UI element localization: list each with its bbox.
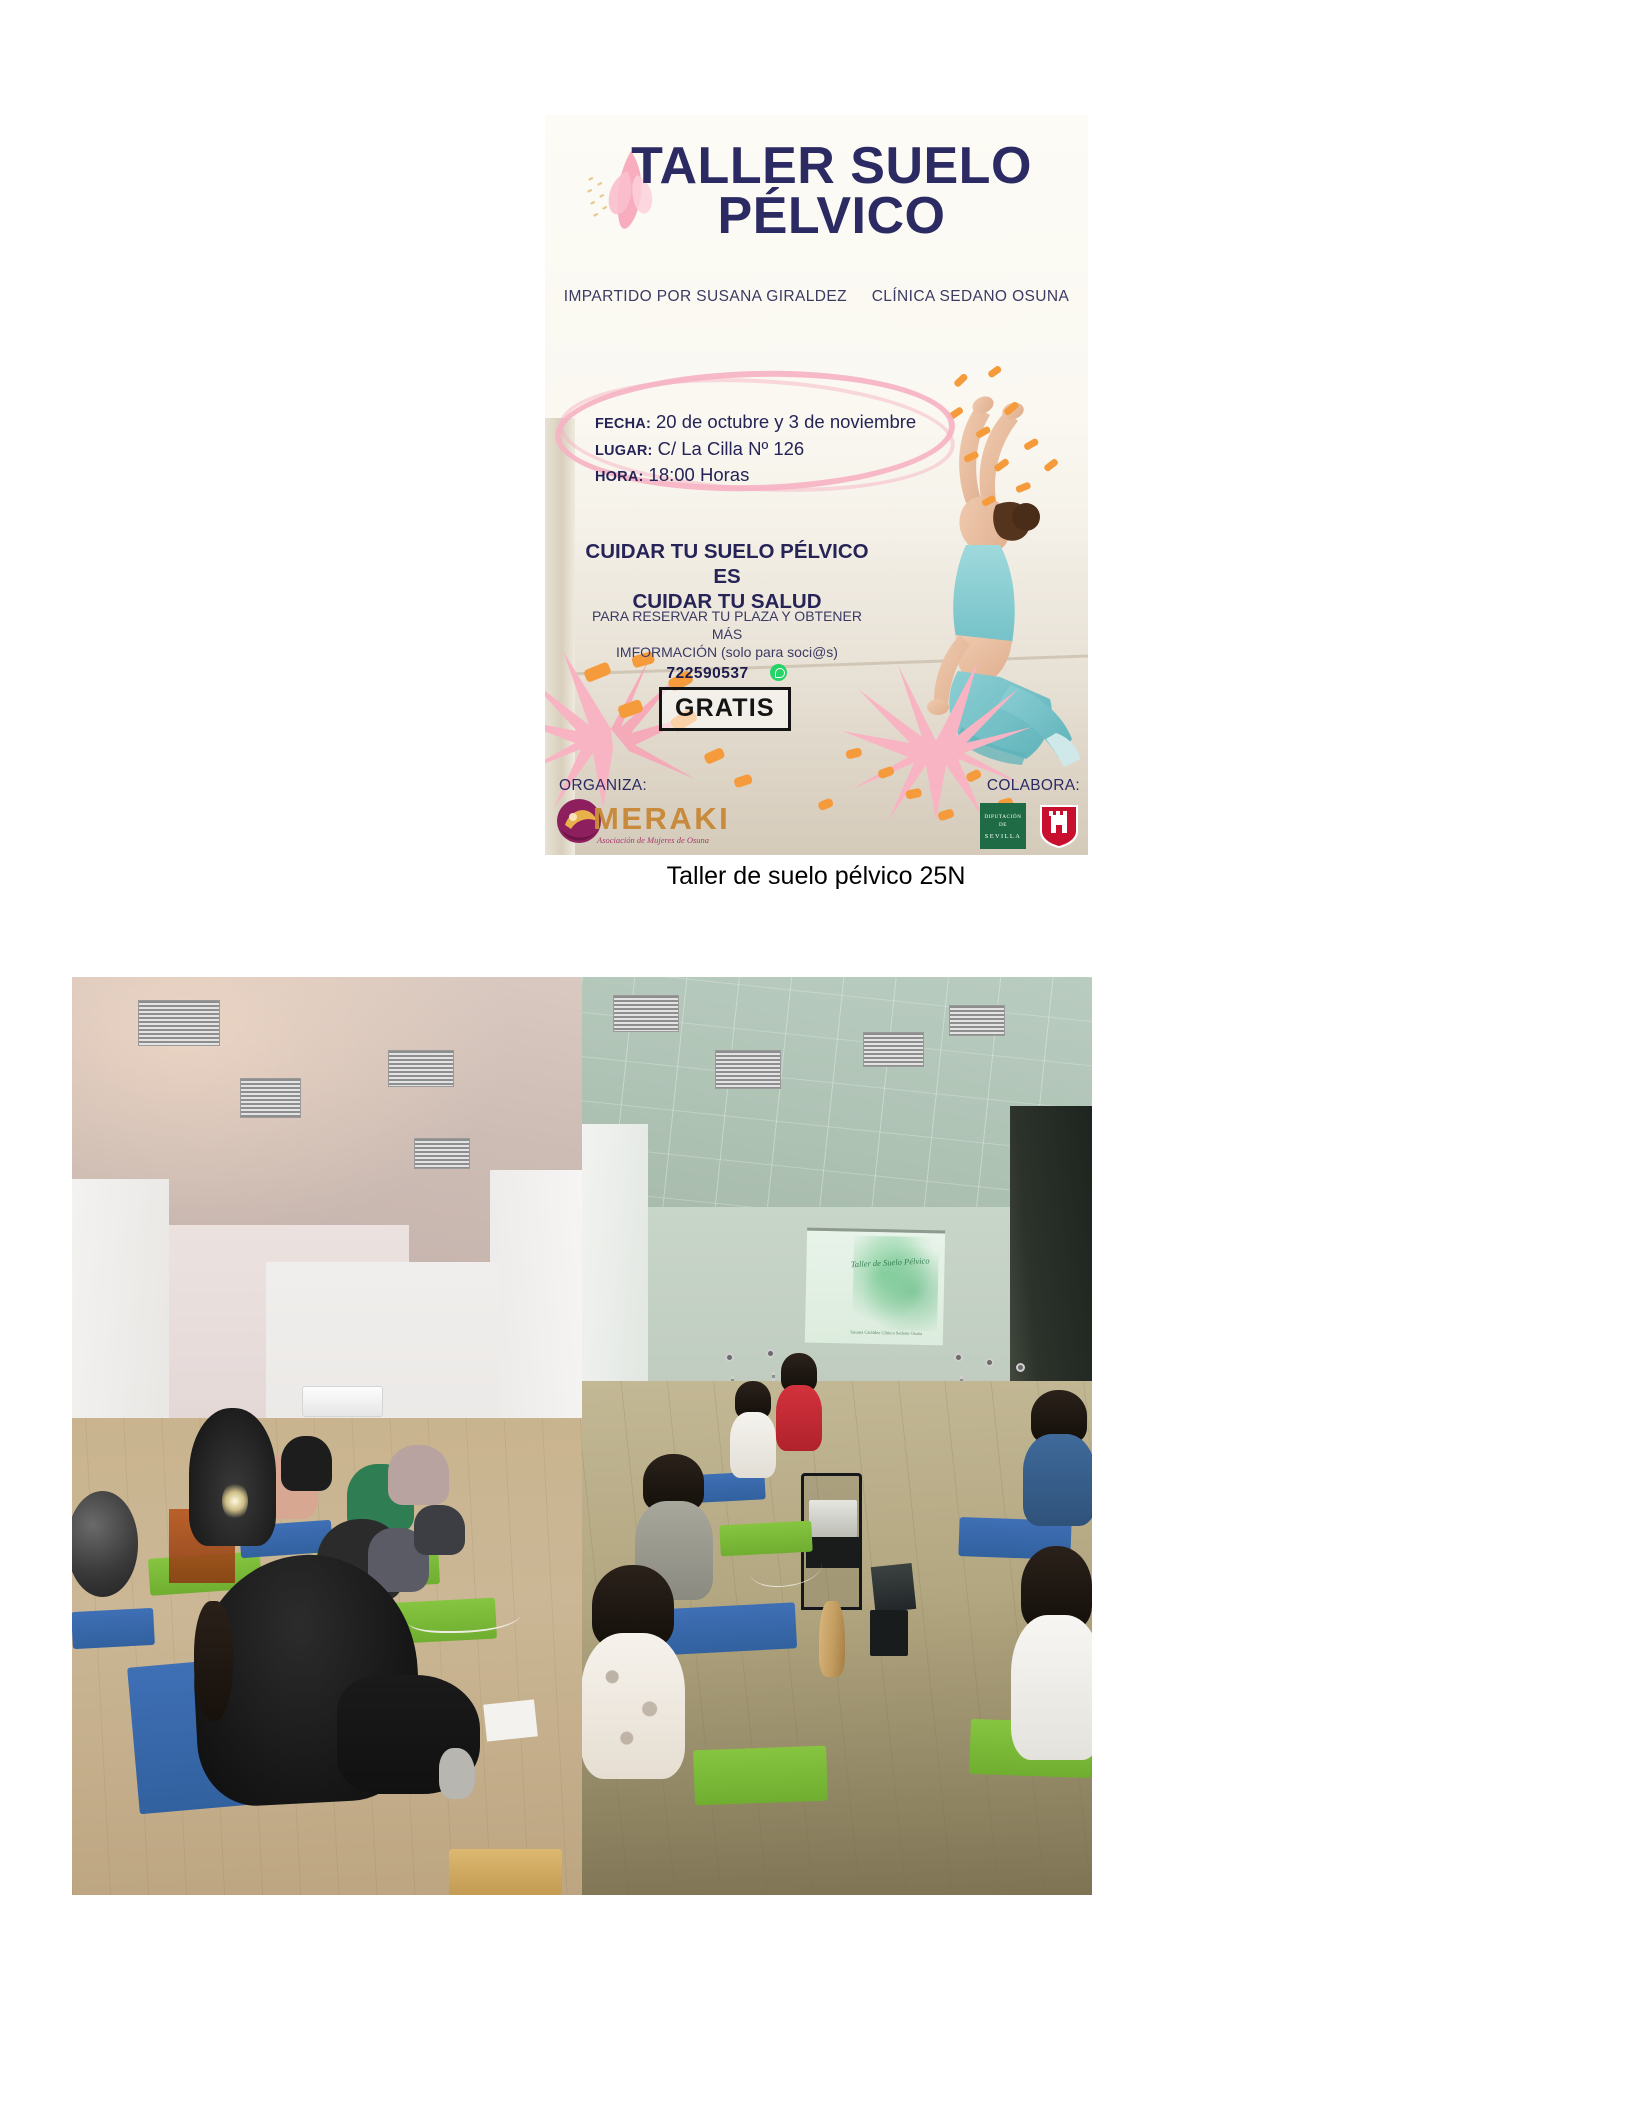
detail-row-fecha: FECHA: 20 de octubre y 3 de noviembre (595, 409, 935, 436)
detail-label-fecha: FECHA: (595, 416, 651, 432)
participant (388, 1445, 449, 1505)
chain-anchor (985, 1358, 994, 1367)
osuna-coat-of-arms-icon (1036, 801, 1082, 849)
participant-foreground-sock (439, 1748, 475, 1798)
detail-row-hora: HORA: 18:00 Horas (595, 462, 935, 489)
participant-foreground-hair (194, 1601, 232, 1720)
yoga-mat (72, 1608, 154, 1649)
credit-instructor: IMPARTIDO POR SUSANA GIRALDEZ (564, 288, 847, 305)
chain-anchor (1016, 1363, 1025, 1372)
detail-value-fecha: 20 de octubre y 3 de noviembre (656, 411, 916, 432)
participant-seated (735, 1381, 771, 1473)
paper-on-floor (483, 1700, 538, 1742)
torso (1011, 1615, 1092, 1760)
detail-label-lugar: LUGAR: (595, 443, 653, 459)
screen-subtitle: Susana Giráldez Clínica Sedano Osuna (838, 1330, 934, 1339)
torso (1023, 1434, 1092, 1527)
ceiling-vent (863, 1032, 924, 1067)
meraki-logo: MERAKI Asociación de Mujeres de Osuna (553, 795, 753, 853)
ceiling-vent (949, 1005, 1005, 1036)
poster-credits: IMPARTIDO POR SUSANA GIRALDEZ CLÍNICA SE… (545, 288, 1088, 306)
detail-label-hora: HORA: (595, 469, 644, 485)
detail-value-lugar: C/ La Cilla Nº 126 (658, 438, 805, 459)
document-page: TALLER SUELO PÉLVICO IMPARTIDO POR SUSAN… (0, 0, 1632, 2112)
participant-seated (781, 1353, 817, 1445)
poster-title-line1: TALLER SUELO (631, 137, 1032, 195)
reserve-line1: PARA RESERVAR TU PLAZA Y OBTENER MÁS (577, 607, 877, 643)
credit-clinic: CLÍNICA SEDANO OSUNA (872, 288, 1070, 305)
page-title: TALLER SUELO PÉLVICO (545, 141, 1088, 242)
diputacion-line3: SEVILLA (980, 832, 1026, 841)
meraki-tagline: Asociación de Mujeres de Osuna (597, 835, 709, 845)
reserve-line2: IMFORMACIÓN (solo para soci@s) (577, 643, 877, 661)
participant-seated-foreground (1021, 1546, 1092, 1748)
participant-seated (1031, 1390, 1087, 1519)
photo-gallery: CENTRO ACTIVE (72, 977, 1104, 1895)
detail-value-hora: 18:00 Horas (649, 464, 750, 485)
ceiling-light-panel (613, 995, 679, 1032)
poster-details-block: FECHA: 20 de octubre y 3 de noviembre LU… (595, 409, 935, 489)
colabora-label: COLABORA: (987, 777, 1080, 795)
detail-row-lugar: LUGAR: C/ La Cilla Nº 126 (595, 436, 935, 463)
yoga-mat (652, 1602, 797, 1655)
torso (776, 1385, 822, 1451)
status-badge-gratis: GRATIS (659, 687, 791, 731)
ceiling-light-panel (715, 1050, 781, 1089)
confetti-dots-icon (585, 175, 625, 223)
diputacion-line2: DE (999, 822, 1007, 828)
ceiling-vent (414, 1138, 470, 1169)
workshop-photo-presentation: Taller de Suelo Pélvico Susana Giráldez … (582, 977, 1092, 1895)
whatsapp-icon (770, 664, 787, 681)
ceramic-vase (819, 1601, 845, 1676)
lamp-glow (222, 1482, 248, 1521)
studio-lamp (189, 1408, 276, 1546)
diputacion-sevilla-logo: DIPUTACIÓN DE SEVILLA (980, 803, 1026, 849)
projection-screen: Taller de Suelo Pélvico Susana Giráldez … (805, 1228, 945, 1346)
poster-tagline: CUIDAR TU SUELO PÉLVICO ES CUIDAR TU SAL… (577, 539, 877, 614)
yoga-mat (693, 1746, 827, 1806)
poster-canvas: TALLER SUELO PÉLVICO IMPARTIDO POR SUSAN… (545, 115, 1088, 855)
yoga-mat (719, 1521, 812, 1557)
poster-image: TALLER SUELO PÉLVICO IMPARTIDO POR SUSAN… (545, 115, 1088, 855)
contact-phone: 722590537 (667, 664, 749, 684)
laptop (870, 1563, 915, 1613)
air-conditioner (302, 1386, 384, 1417)
organiza-label: ORGANIZA: (559, 777, 647, 795)
torso-floral-blouse (582, 1633, 685, 1778)
torso (730, 1412, 776, 1478)
ceiling-vent (388, 1050, 454, 1087)
chain-anchor (766, 1349, 775, 1358)
floor-mat-edge (449, 1849, 561, 1895)
projector (809, 1500, 857, 1537)
stool (870, 1610, 908, 1656)
photo-caption: Taller de suelo pélvico 25N (0, 862, 1632, 891)
ceiling-light-panel (138, 1000, 220, 1046)
poster-title-line2: PÉLVICO (601, 191, 1062, 241)
poster-title-block: TALLER SUELO PÉLVICO (545, 141, 1088, 242)
tagline-line1: CUIDAR TU SUELO PÉLVICO ES (577, 539, 877, 589)
watercolor-blob (852, 1236, 939, 1332)
participant-seated-foreground (592, 1565, 674, 1767)
diputacion-line1: DIPUTACIÓN (984, 814, 1021, 820)
workshop-photo-practice: CENTRO ACTIVE (72, 977, 582, 1895)
participant (414, 1505, 465, 1555)
participant (281, 1436, 332, 1491)
ceiling-vent (240, 1078, 301, 1118)
meraki-wordmark: MERAKI (593, 801, 730, 837)
poster-reservation-info: PARA RESERVAR TU PLAZA Y OBTENER MÁS IMF… (577, 607, 877, 684)
